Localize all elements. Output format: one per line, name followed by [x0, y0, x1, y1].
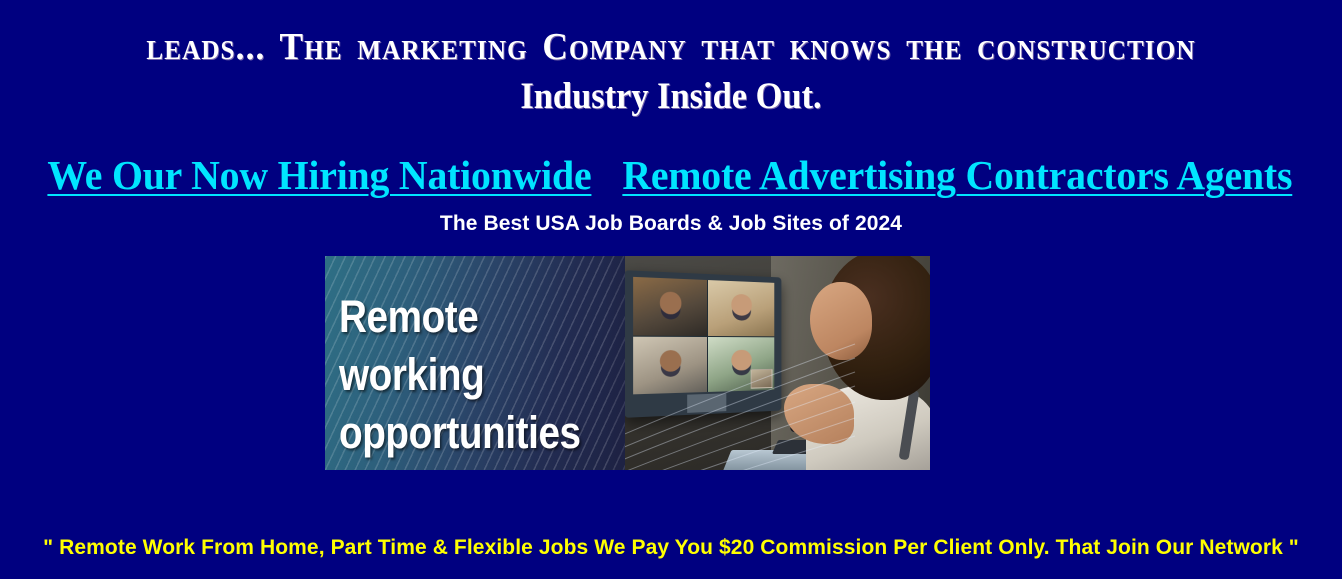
banner-headline-line-1: Remote working [339, 288, 588, 404]
video-tile-participant-2 [707, 280, 774, 336]
monitor-stand [687, 393, 726, 413]
participant-face [732, 350, 752, 371]
page-title-line-1: leads... The marketing Company that know… [47, 22, 1295, 72]
video-call-photo [625, 256, 930, 470]
hiring-link-remote-agents[interactable]: Remote Advertising Contractors Agents [622, 152, 1292, 198]
page-title-line-2: Industry Inside Out. [47, 72, 1295, 122]
participant-face [732, 294, 752, 315]
footer-commission-notice: " Remote Work From Home, Part Time & Fle… [0, 534, 1342, 562]
video-tile-participant-3 [633, 336, 706, 394]
hiring-headline: We Our Now Hiring NationwideRemote Adver… [0, 152, 1342, 198]
video-tile-pip [751, 369, 773, 389]
subtitle-best-usa-job-boards: The Best USA Job Boards & Job Sites of 2… [0, 210, 1342, 238]
participant-face [660, 292, 682, 315]
video-tile-participant-4 [707, 337, 774, 392]
page-root: leads... The marketing Company that know… [0, 0, 1342, 579]
monitor-screen [633, 277, 774, 394]
banner-headline-line-2: opportunities [339, 404, 588, 462]
woman-face [810, 282, 872, 360]
hiring-link-nationwide[interactable]: We Our Now Hiring Nationwide [48, 152, 592, 198]
remote-working-banner-image[interactable]: Remote working opportunities [325, 256, 930, 470]
participant-face [660, 350, 682, 372]
banner-headline: Remote working opportunities [339, 288, 588, 462]
page-title: leads... The marketing Company that know… [0, 22, 1342, 122]
video-tile-participant-1 [633, 277, 706, 336]
monitor [625, 270, 781, 418]
